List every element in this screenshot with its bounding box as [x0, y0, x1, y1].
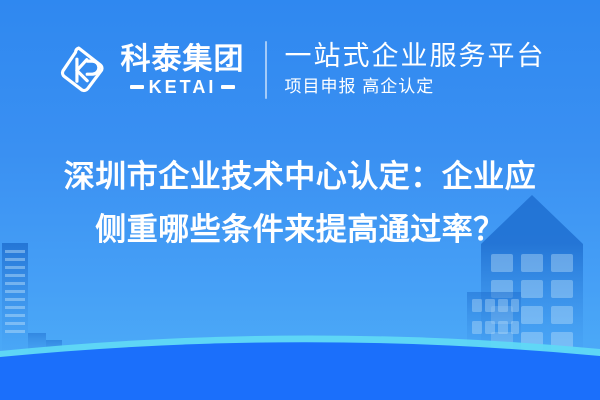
logo-dash-right-icon — [221, 85, 235, 89]
banner-header: 科泰集团 KETAI 一站式企业服务平台 项目申报 高企认定 — [0, 0, 600, 140]
logo-company-name-cn: 科泰集团 — [121, 44, 245, 76]
building-left-tower — [2, 243, 28, 358]
company-logo: 科泰集团 KETAI — [55, 42, 265, 98]
tagline-primary: 一站式企业服务平台 — [285, 41, 546, 72]
ketai-monogram-logo-icon — [55, 42, 111, 98]
tagline-block: 一站式企业服务平台 项目申报 高企认定 — [285, 41, 546, 98]
page-title-line-2: 侧重哪些条件来提高通过率？ — [38, 203, 562, 256]
header-divider — [265, 41, 267, 99]
logo-company-name-en: KETAI — [149, 78, 217, 96]
page-title-line-1: 深圳市企业技术中心认定：企业应 — [38, 150, 562, 203]
brand-row: 科泰集团 KETAI 一站式企业服务平台 项目申报 高企认定 — [55, 41, 546, 99]
building-right-short — [467, 292, 521, 362]
logo-dash-left-icon — [130, 85, 144, 89]
tagline-secondary: 项目申报 高企认定 — [285, 76, 546, 98]
wave-body — [0, 342, 600, 400]
wave-edge-highlight — [0, 335, 600, 400]
page-title: 深圳市企业技术中心认定：企业应 侧重哪些条件来提高通过率？ — [0, 150, 600, 257]
promo-banner: 科泰集团 KETAI 一站式企业服务平台 项目申报 高企认定 深圳市企业技术中心… — [0, 0, 600, 400]
logo-wordmark: 科泰集团 KETAI — [121, 44, 245, 97]
building-left-small — [28, 333, 62, 362]
logo-en-row: KETAI — [121, 78, 245, 96]
